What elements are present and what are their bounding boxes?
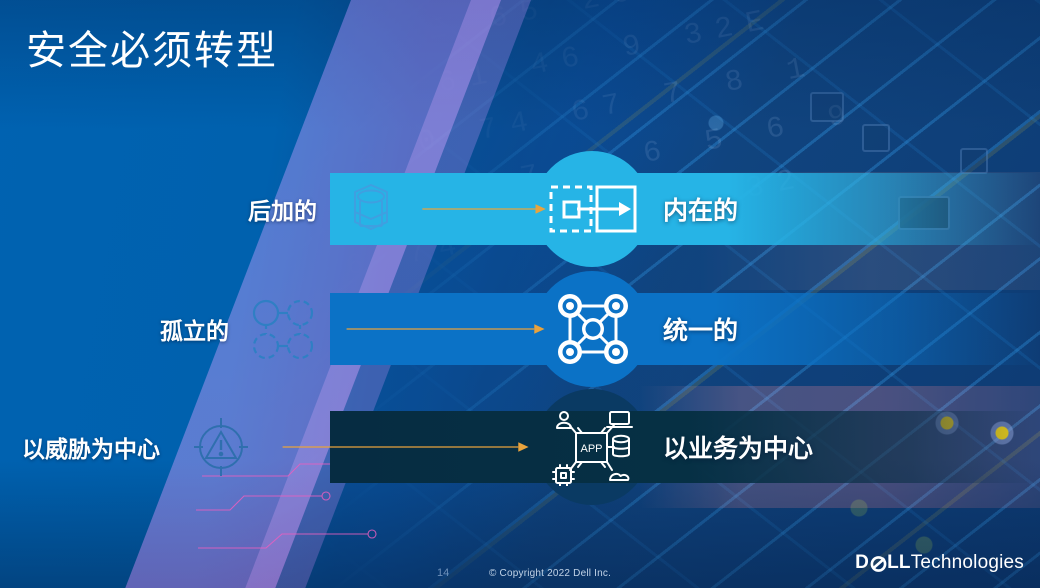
row2-to-label: 统一的 [663, 311, 738, 347]
page-title: 安全必须转型 [26, 18, 278, 76]
hex-nut-icon [338, 182, 404, 236]
slide-root: 5746 4394D6 5 0C 6E 2079 42 SP 4C56 2E 0… [0, 0, 1040, 588]
dell-letters-ll: LL [887, 552, 911, 574]
arrow-right-icon [412, 203, 557, 215]
dell-slashed-o-icon [870, 555, 887, 572]
embedded-module-icon [549, 183, 637, 235]
technologies-wordmark: Technologies [911, 552, 1024, 574]
app-ecosystem-icon: APP [548, 408, 634, 486]
row3-from-label: 以威胁为中心 [22, 430, 160, 464]
threat-target-icon [192, 416, 250, 478]
app-box-label: APP [580, 443, 602, 455]
row-siloed-to-unified: 孤立的 [0, 293, 1040, 365]
disconnected-nodes-icon [250, 298, 316, 360]
dell-technologies-logo: D LL Technologies [855, 552, 1024, 574]
connected-mesh-icon [556, 292, 630, 366]
page-number: 14 [437, 567, 449, 579]
arrow-right-icon [262, 441, 550, 453]
row2-from-label: 孤立的 [160, 312, 229, 346]
copyright-text: © Copyright 2022 Dell Inc. [489, 568, 611, 579]
row3-to-label: 以业务为中心 [663, 429, 813, 465]
row1-to-label: 内在的 [663, 191, 738, 227]
row-bolt-on-to-intrinsic: 后加的 内在的 [0, 173, 1040, 245]
dell-wordmark: D LL [855, 552, 911, 574]
row-threat-centric-to-business-centric: 以威胁为中心 [0, 411, 1040, 483]
arrow-right-icon [330, 323, 562, 335]
row1-from-label: 后加的 [248, 192, 317, 226]
dell-letter-d: D [855, 552, 869, 574]
